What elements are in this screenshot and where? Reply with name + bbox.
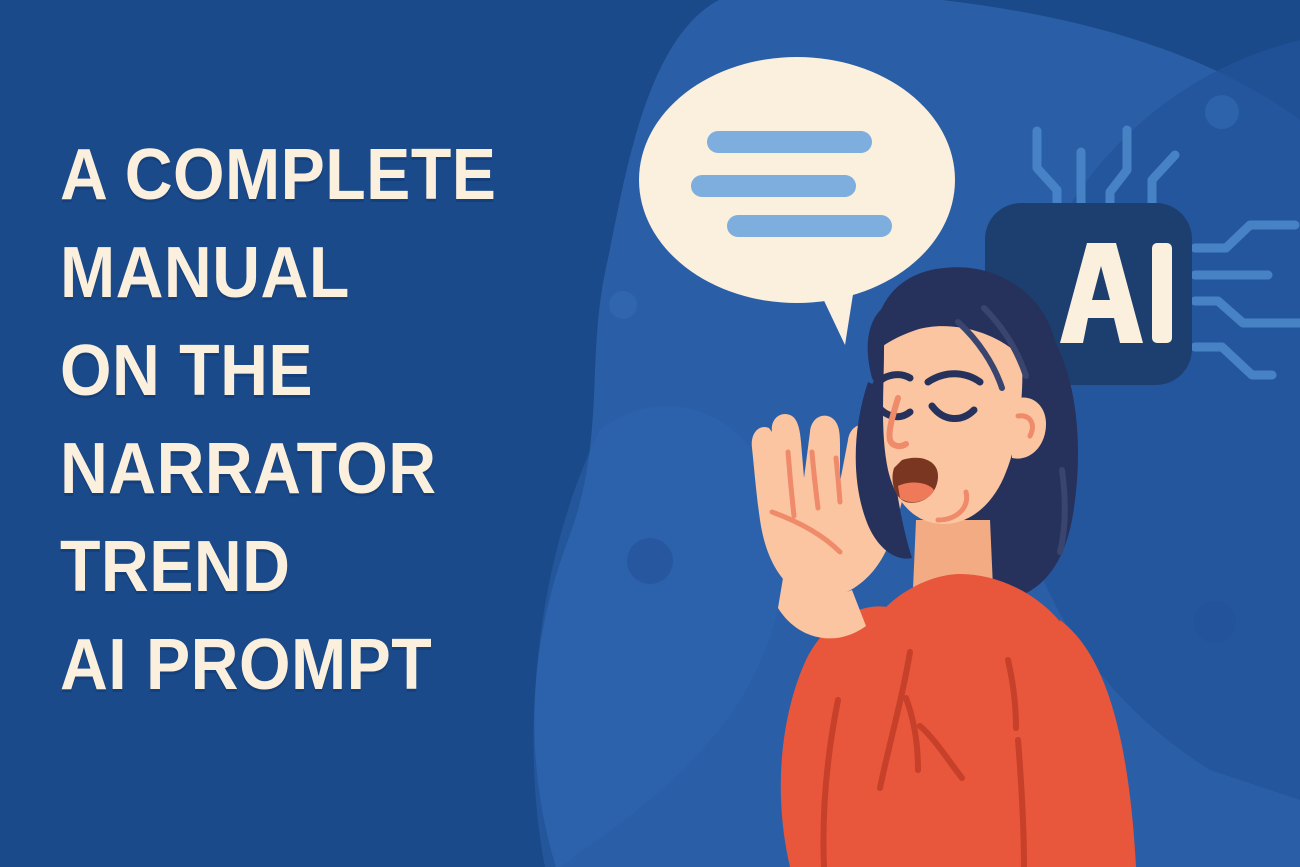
speech-bubble-line <box>691 175 856 197</box>
speech-bubble <box>0 0 1300 867</box>
speech-bubble-line <box>727 215 892 237</box>
poster-canvas: A COMPLETE MANUAL ON THE NARRATOR TREND … <box>0 0 1300 867</box>
speech-bubble-line <box>707 131 872 153</box>
